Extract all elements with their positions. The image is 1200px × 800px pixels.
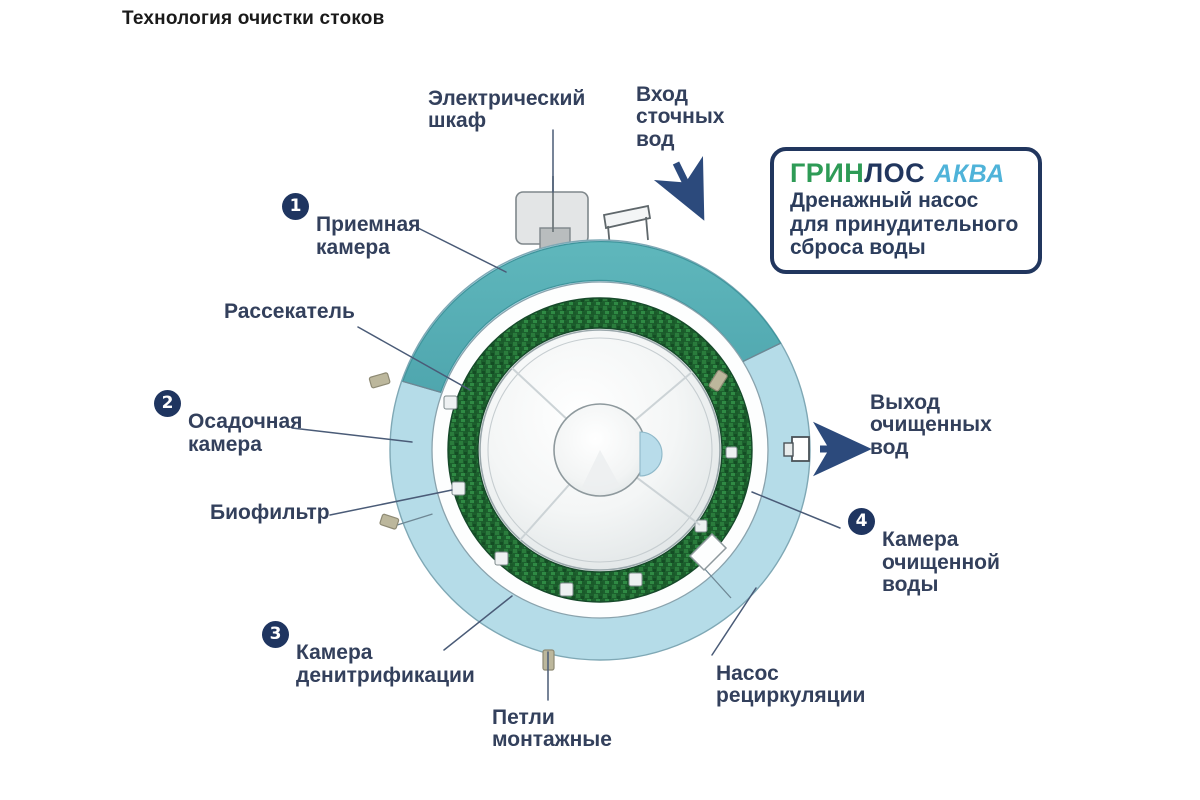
brand-wordmark: ГРИНЛОСАКВА: [790, 159, 1026, 187]
badge-4: 4: [848, 508, 875, 535]
diagram-stage: Технология очистки стоков: [0, 0, 1200, 800]
callout-recirculation-pump: Насос рециркуляции: [716, 663, 865, 708]
badge-2: 2: [154, 390, 181, 417]
callout-intake-chamber-label: Приемная камера: [316, 213, 420, 258]
callout-denitrification-chamber-label: Камера денитрификации: [296, 641, 475, 686]
callout-treated-water-outlet: Выход очищенных вод: [870, 392, 992, 459]
brand-part-aqua: АКВА: [934, 160, 1005, 188]
callout-denitrification-chamber: 3Камера денитрификации: [262, 620, 475, 687]
greenlos-aqua-logo-box: ГРИНЛОСАКВА Дренажный насос для принудит…: [770, 147, 1042, 274]
callout-settling-chamber: 2Осадочная камера: [154, 389, 302, 456]
callout-intake-chamber: 1Приемная камера: [282, 192, 420, 259]
brand-part-green: ГРИН: [790, 158, 864, 188]
badge-1: 1: [282, 193, 309, 220]
callout-settling-chamber-label: Осадочная камера: [188, 410, 302, 455]
callout-flow-splitter: Рассекатель: [224, 301, 355, 323]
logo-subtitle: Дренажный насос для принудительного сбро…: [790, 189, 1026, 260]
callout-mounting-loops: Петли монтажные: [492, 707, 612, 752]
callout-clean-water-chamber-label: Камера очищенной воды: [882, 528, 1000, 596]
badge-3: 3: [262, 621, 289, 648]
callout-electrical-cabinet: Электрический шкаф: [428, 88, 585, 133]
brand-part-dark: ЛОС: [864, 158, 925, 188]
callout-inlet-of-wastewater: Вход сточных вод: [636, 84, 724, 151]
callout-biofilter: Биофильтр: [210, 502, 330, 524]
callout-clean-water-chamber: 4Камера очищенной воды: [848, 507, 1000, 596]
